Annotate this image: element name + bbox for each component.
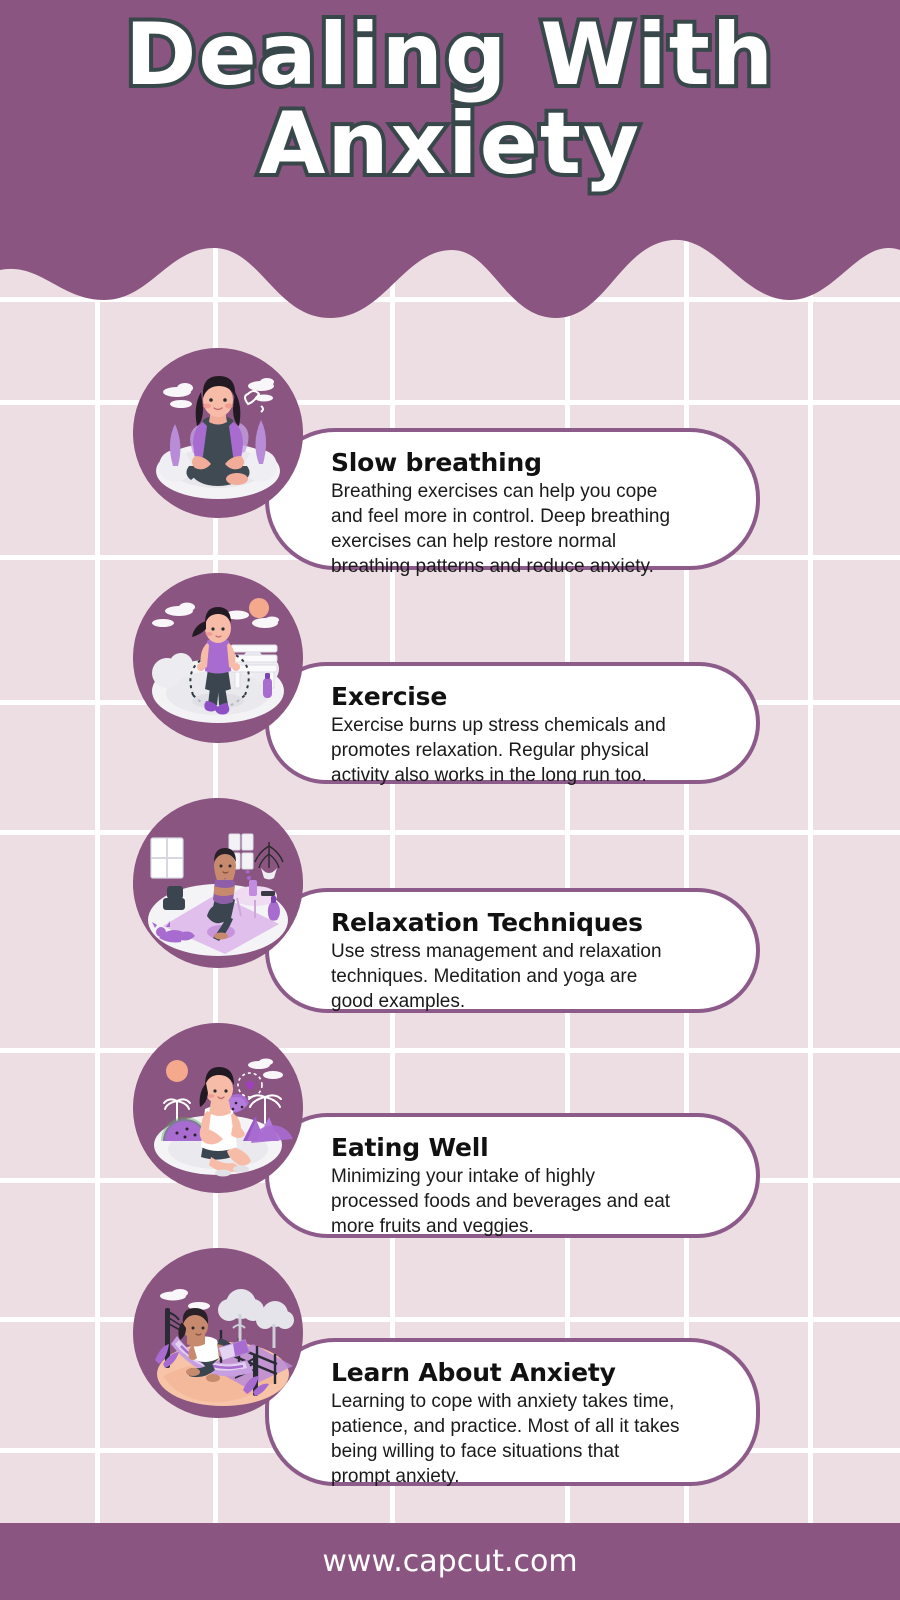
footer-url[interactable]: www.capcut.com bbox=[322, 1544, 577, 1579]
illustration-jump-rope-exercise-icon bbox=[133, 573, 303, 743]
title-line-2: Anxiety bbox=[0, 103, 900, 186]
illustration-reading-hammock-icon bbox=[133, 1248, 303, 1418]
footer-bar: www.capcut.com bbox=[0, 1523, 900, 1600]
grid-line-horizontal bbox=[0, 1048, 900, 1053]
page-title: Dealing With Anxiety bbox=[0, 14, 900, 185]
illustration-eating-watermelon-beach-icon bbox=[133, 1023, 303, 1193]
card-body: Learning to cope with anxiety takes time… bbox=[331, 1389, 722, 1489]
illustration-meditation-lotus-pose-icon bbox=[133, 348, 303, 518]
card-body: Breathing exercises can help you cope an… bbox=[331, 479, 722, 579]
card-title: Eating Well bbox=[331, 1133, 722, 1162]
title-line-1: Dealing With bbox=[0, 14, 900, 97]
card-title: Relaxation Techniques bbox=[331, 908, 722, 937]
card-title: Slow breathing bbox=[331, 448, 722, 477]
infographic-poster: Dealing With Anxiety bbox=[0, 0, 900, 1600]
card-learn-about-anxiety[interactable]: Learn About Anxiety Learning to cope wit… bbox=[265, 1338, 760, 1486]
card-body: Use stress management and relaxation tec… bbox=[331, 939, 722, 1014]
header-banner: Dealing With Anxiety bbox=[0, 0, 900, 320]
card-title: Learn About Anxiety bbox=[331, 1358, 722, 1387]
card-body: Exercise burns up stress chemicals and p… bbox=[331, 713, 722, 788]
card-exercise[interactable]: Exercise Exercise burns up stress chemic… bbox=[265, 662, 760, 784]
card-title: Exercise bbox=[331, 682, 722, 711]
grid-line-horizontal bbox=[0, 830, 900, 835]
card-relaxation-techniques[interactable]: Relaxation Techniques Use stress managem… bbox=[265, 888, 760, 1013]
card-body: Minimizing your intake of highly process… bbox=[331, 1164, 722, 1239]
grid-line-horizontal bbox=[0, 400, 900, 405]
card-slow-breathing[interactable]: Slow breathing Breathing exercises can h… bbox=[265, 428, 760, 570]
illustration-yoga-tree-pose-icon bbox=[133, 798, 303, 968]
card-eating-well[interactable]: Eating Well Minimizing your intake of hi… bbox=[265, 1113, 760, 1238]
